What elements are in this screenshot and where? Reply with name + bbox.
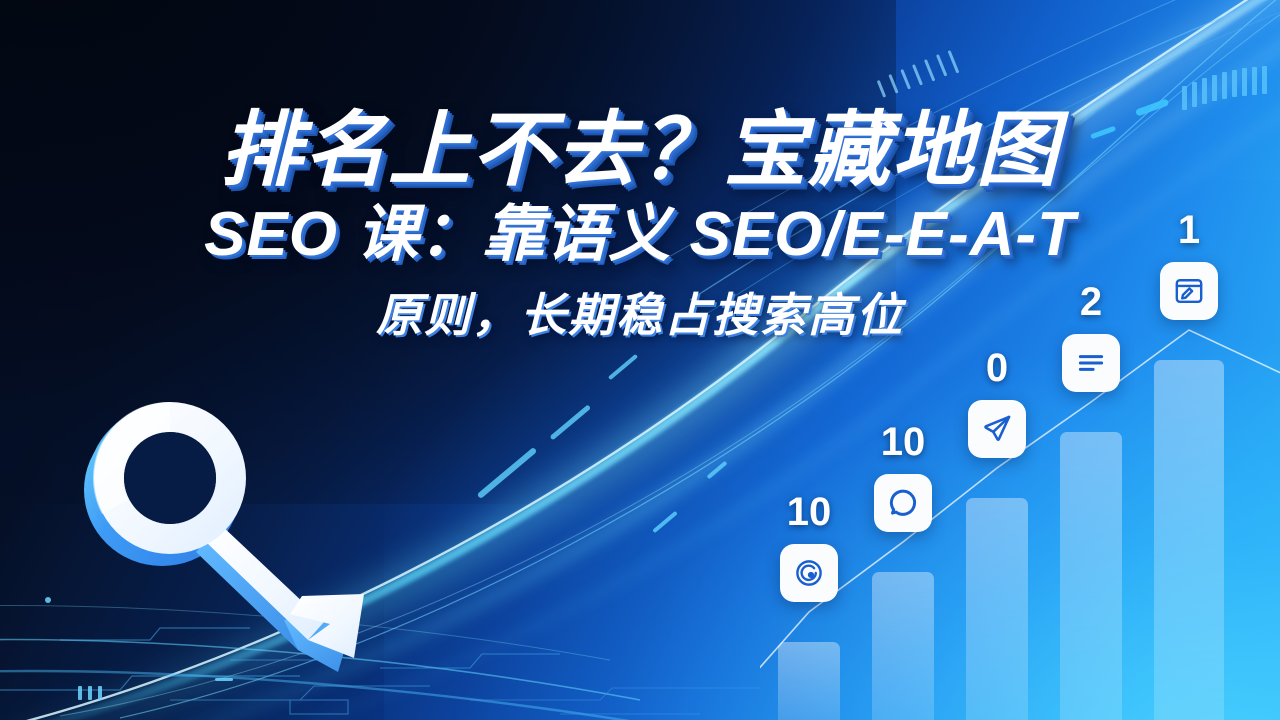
folder-edit-icon [1160,262,1218,320]
document-lines-icon [1062,334,1120,392]
list-item: 2 [1060,282,1122,432]
magnifier-arrow-icon [62,382,392,682]
bar-value-label: 1 [1178,210,1200,250]
list-item: 1 [1154,210,1224,360]
bar-value-label: 10 [881,422,926,462]
chat-bubble-icon [874,474,932,532]
list-item: 10 [778,492,840,642]
bar-value-label: 10 [787,492,832,532]
bar-value-label: 2 [1080,282,1102,322]
list-item: 10 [872,422,934,572]
paper-plane-icon [968,400,1026,458]
bar-chart: 10 10 0 [760,290,1280,720]
bar-value-label: 0 [986,348,1008,388]
spiral-eye-icon [780,544,838,602]
poster-canvas: 排名上不去？宝藏地图 SEO 课：靠语义 SEO/E-E-A-T 原则，长期稳占… [0,0,1280,720]
list-item: 0 [966,348,1028,498]
